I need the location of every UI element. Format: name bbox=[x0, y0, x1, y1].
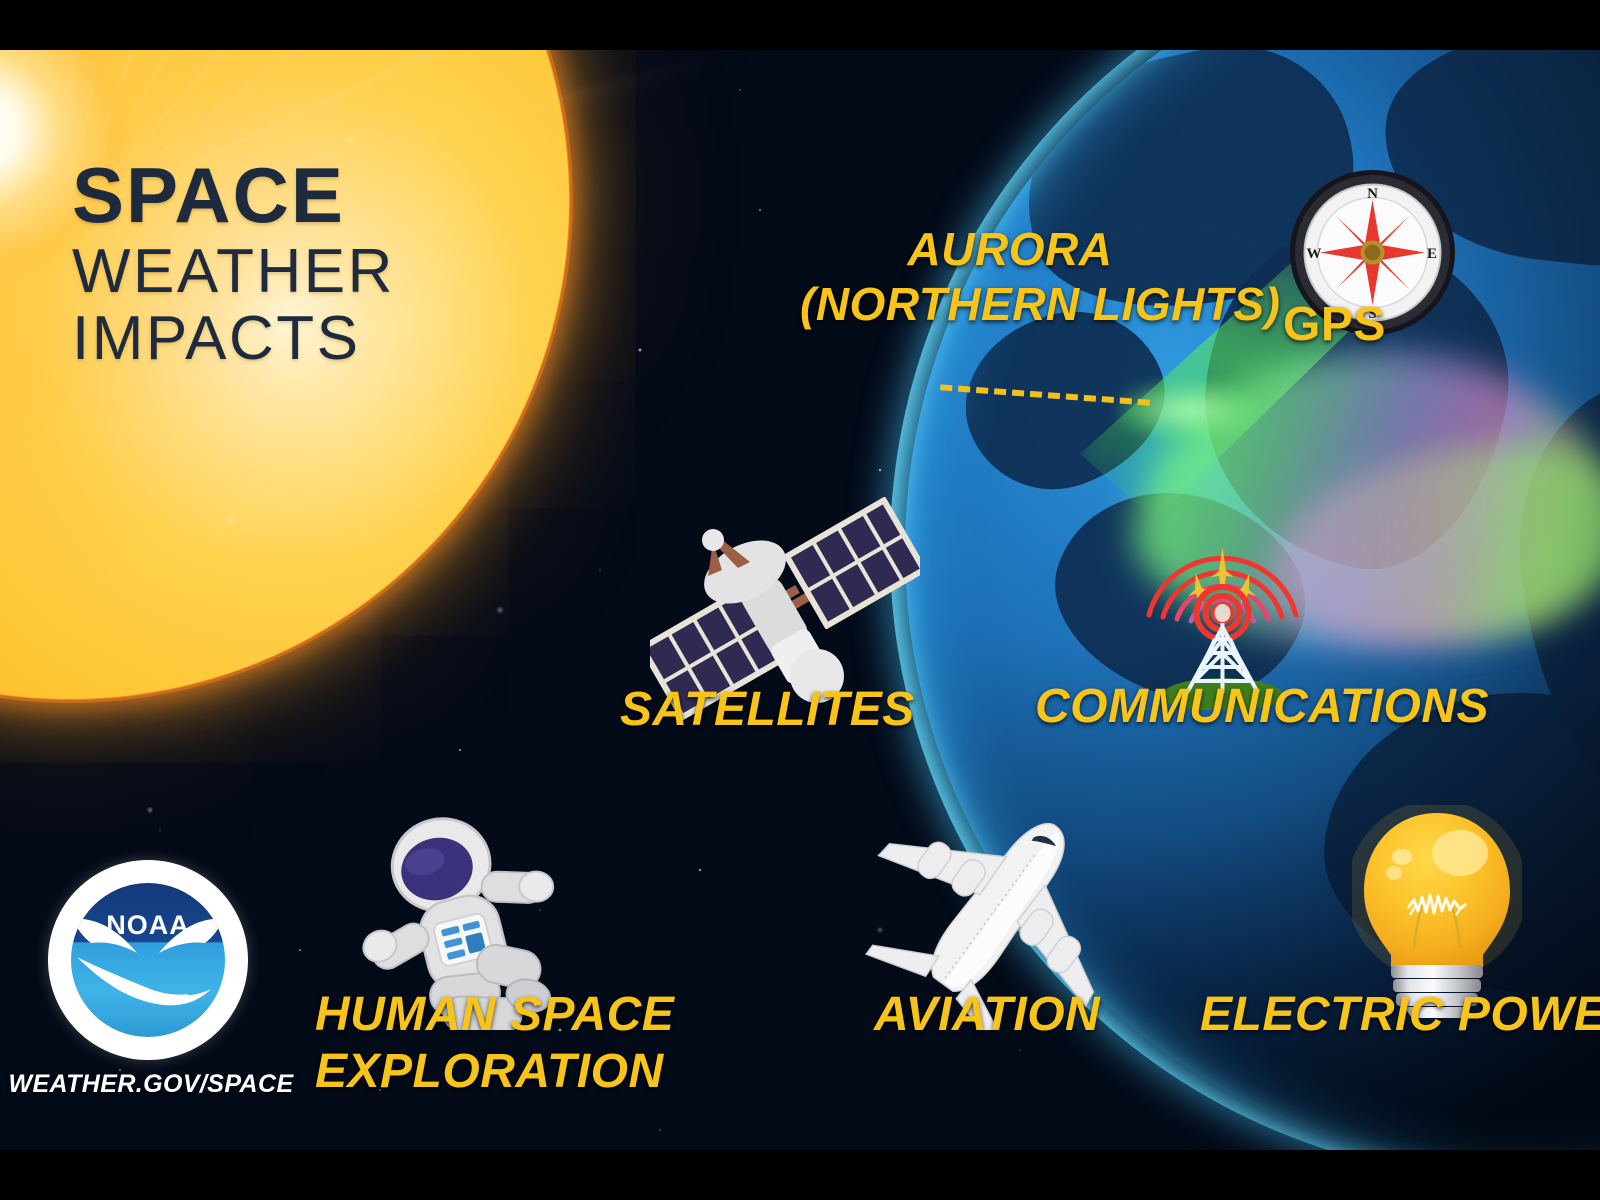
label-human-space-exploration: HUMAN SPACE EXPLORATION bbox=[315, 990, 645, 1098]
label-satellites: SATELLITES bbox=[620, 685, 915, 736]
label-electric-power: ELECTRIC POWER bbox=[1200, 990, 1600, 1041]
compass-label-west: W bbox=[1307, 246, 1322, 262]
label-human-space-line1: HUMAN SPACE bbox=[315, 988, 674, 1041]
label-gps: GPS bbox=[1283, 300, 1386, 351]
space-scene: SPACE WEATHER IMPACTS bbox=[0, 50, 1600, 1150]
compass-label-east: E bbox=[1427, 246, 1437, 262]
title-line-impacts: IMPACTS bbox=[72, 306, 395, 373]
website-url: WEATHER.GOV/SPACE bbox=[6, 1070, 296, 1099]
noaa-inner-disc: NOAA bbox=[71, 883, 225, 1037]
label-aurora-line2: (NORTHERN LIGHTS) bbox=[800, 280, 1220, 329]
label-aurora: AURORA (NORTHERN LIGHTS) bbox=[800, 225, 1220, 329]
infographic-poster: SPACE WEATHER IMPACTS bbox=[0, 0, 1600, 1200]
label-aviation: AVIATION bbox=[874, 990, 1100, 1041]
radio-tower-icon bbox=[1135, 495, 1310, 710]
aurora-core-glow bbox=[1118, 380, 1258, 440]
title-line-weather: WEATHER bbox=[72, 239, 395, 306]
label-human-space-line2: EXPLORATION bbox=[315, 1047, 645, 1098]
letterbox-bar-bottom bbox=[0, 1150, 1600, 1200]
noaa-abbr-text: NOAA bbox=[71, 910, 225, 941]
title-line-space: SPACE bbox=[72, 158, 395, 233]
compass-label-north: N bbox=[1367, 186, 1378, 202]
label-aurora-line1: AURORA bbox=[908, 223, 1113, 275]
letterbox-bar-top bbox=[0, 0, 1600, 50]
page-title: SPACE WEATHER IMPACTS bbox=[72, 158, 395, 373]
label-communications: COMMUNICATIONS bbox=[1035, 682, 1489, 733]
noaa-seagull-icon bbox=[71, 883, 225, 1037]
sun-icon bbox=[0, 50, 570, 700]
noaa-logo: NOAA bbox=[48, 860, 248, 1060]
